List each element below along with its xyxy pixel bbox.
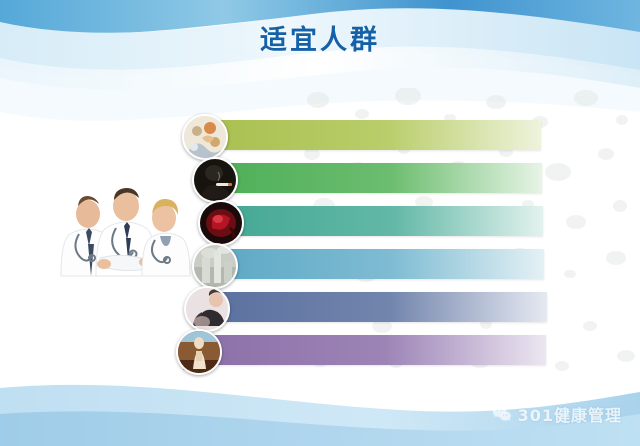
list-item-bar (190, 335, 546, 365)
smoking-icon (192, 157, 238, 203)
wechat-icon (492, 404, 512, 424)
alcohol-icon (198, 200, 244, 246)
watermark-label: 301健康管理 (518, 402, 622, 426)
slide-canvas: 适宜人群 (0, 0, 640, 446)
list-item-bar (206, 249, 544, 279)
pollution-icon (192, 243, 238, 289)
list-item[interactable]: 具有肿瘤家族史、慢性疾病家族史的人群 (196, 120, 541, 150)
list-item[interactable]: 所有重视健康，希望享受更先进检测技术的人群 (190, 335, 546, 365)
list-item-bar (212, 206, 543, 236)
audience-list: 具有肿瘤家族史、慢性疾病家族史的人群 长期吸烟或长期接触二手烟的人群 (0, 0, 640, 446)
list-item-bar (196, 120, 541, 150)
family-history-icon (182, 114, 228, 160)
health-checkup-icon (176, 329, 222, 375)
list-item[interactable]: 长期处于污染比较严重的环境中的人群 (206, 249, 544, 279)
list-item-bar (206, 163, 542, 193)
list-item[interactable]: 长期吸烟或长期接触二手烟的人群 (206, 163, 542, 193)
stress-icon (184, 286, 230, 332)
watermark: 301健康管理 (492, 402, 622, 426)
list-item[interactable]: 生活压力大、易怒、抑郁等精神压力大的人群 (198, 292, 547, 322)
list-item-bar (198, 292, 547, 322)
list-item[interactable]: 过量饮酒或饮食不健康的人群 (212, 206, 543, 236)
